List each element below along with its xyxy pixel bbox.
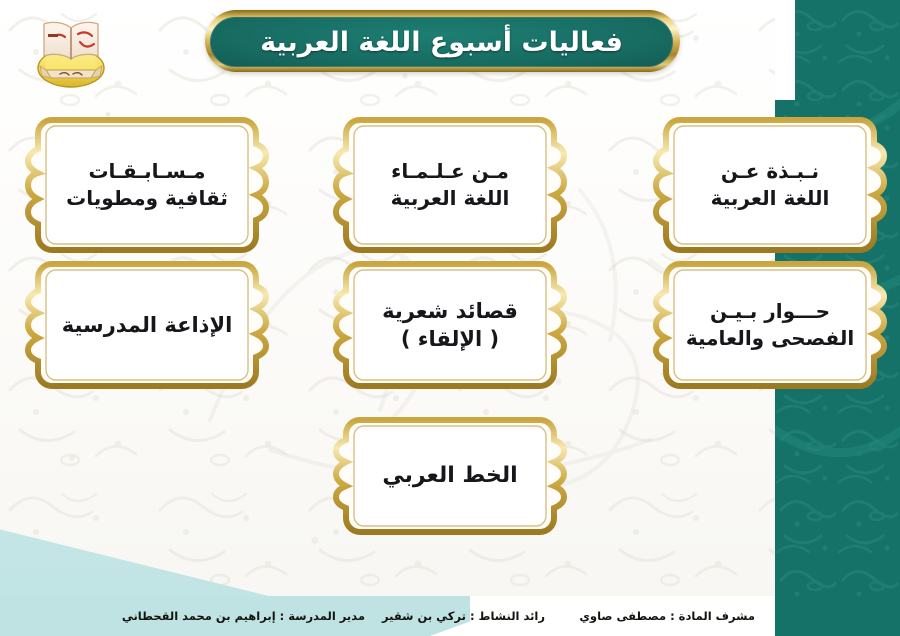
teal-panel-notch	[775, 0, 795, 100]
card-label-line1: الخط العربي	[382, 461, 517, 490]
card-label-line1: قصائد شعرية	[382, 297, 518, 325]
card-calligraphy[interactable]: الخط العربي	[330, 414, 570, 538]
card-label: قصائد شعرية ( الإلقاء )	[354, 297, 546, 353]
title-banner-inner: فعاليات أسبوع اللغة العربية	[210, 17, 673, 67]
card-label-line2: الفصحى والعامية	[686, 325, 854, 352]
card-about-arabic[interactable]: نـبـذة عـن اللغة العربية	[650, 114, 890, 256]
card-school-radio[interactable]: الإذاعة المدرسية	[22, 258, 272, 392]
card-scholars[interactable]: مـن عـلـمـاء اللغة العربية	[330, 114, 570, 256]
card-label: الإذاعة المدرسية	[34, 311, 261, 339]
footer-credits: مشرف المادة : مصطفى صاوي رائد النشاط : ت…	[0, 596, 900, 636]
card-label-line2: ( الإلقاء )	[382, 325, 518, 353]
card-label-line1: نـبـذة عـن	[711, 158, 830, 185]
card-dialogue[interactable]: حـــوار بـيـن الفصحى والعامية	[650, 258, 890, 392]
card-label: نـبـذة عـن اللغة العربية	[683, 158, 858, 212]
card-label: الخط العربي	[354, 461, 545, 490]
card-label: مـسـابـقـات ثقافية ومطويات	[38, 158, 256, 212]
page-title: فعاليات أسبوع اللغة العربية	[260, 27, 623, 58]
card-label-line2: اللغة العربية	[391, 185, 510, 212]
card-label-line2: ثقافية ومطويات	[66, 185, 228, 212]
footer-activity-leader: رائد النشاط : تركي بن شقير	[382, 609, 545, 623]
footer-principal: مدير المدرسة : إبراهيم بن محمد القحطاني	[122, 609, 365, 623]
title-banner: فعاليات أسبوع اللغة العربية	[205, 10, 680, 72]
footer-supervisor: مشرف المادة : مصطفى صاوي	[579, 609, 755, 623]
poster-canvas: فعاليات أسبوع اللغة العربية نـبـذة عـن ا…	[0, 0, 900, 636]
card-label-line1: مـسـابـقـات	[66, 158, 228, 185]
card-label-line2: اللغة العربية	[711, 185, 830, 212]
card-label-line1: حـــوار بـيـن	[686, 298, 854, 325]
card-competitions[interactable]: مـسـابـقـات ثقافية ومطويات	[22, 114, 272, 256]
card-label: مـن عـلـمـاء اللغة العربية	[363, 158, 538, 212]
card-label-line1: مـن عـلـمـاء	[391, 158, 510, 185]
card-label: حـــوار بـيـن الفصحى والعامية	[658, 298, 882, 352]
card-poems[interactable]: قصائد شعرية ( الإلقاء )	[330, 258, 570, 392]
school-emblem-logo	[28, 8, 114, 92]
card-label-line1: الإذاعة المدرسية	[62, 311, 233, 339]
